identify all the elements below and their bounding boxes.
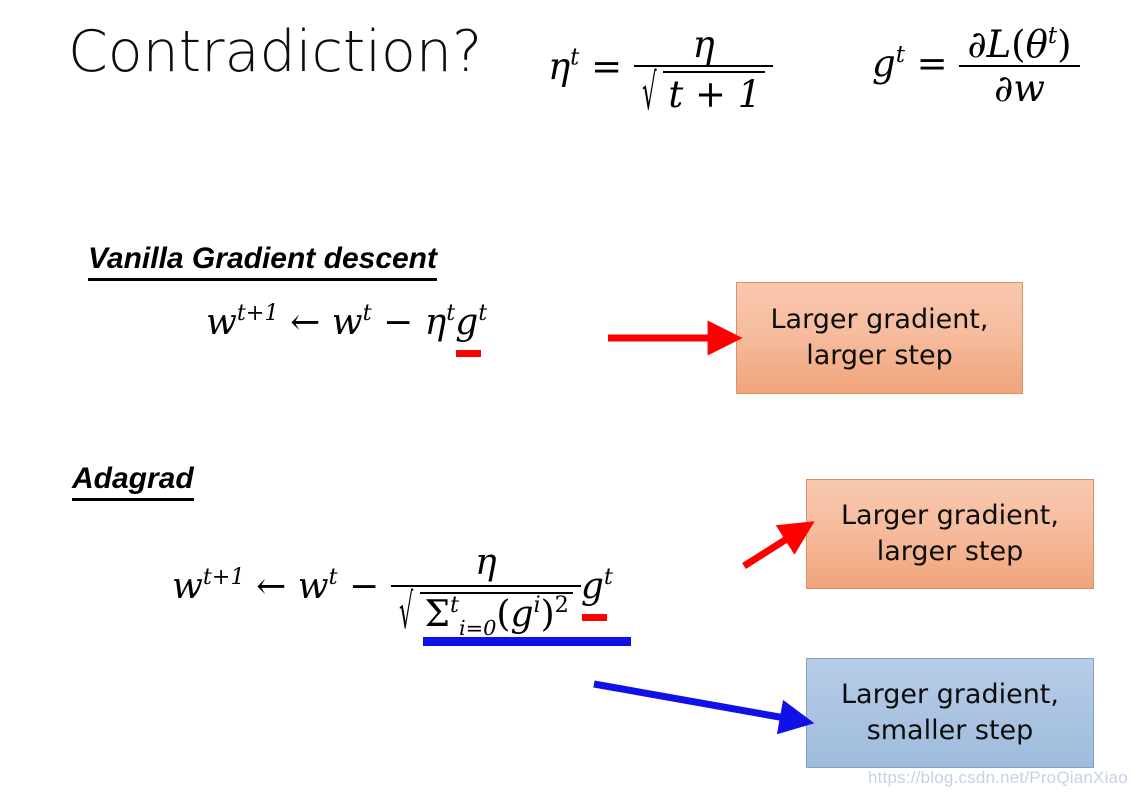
w-base: w: [172, 566, 203, 607]
radicand: t + 1: [663, 71, 765, 113]
theta-symbol: θ: [1026, 23, 1048, 66]
summand-g-base: g: [510, 594, 533, 635]
summand-power: 2: [555, 592, 569, 618]
equals-sign: =: [917, 42, 948, 85]
eta-base: η: [425, 302, 447, 343]
g-superscript: t: [478, 300, 487, 326]
partial-icon: ∂: [967, 23, 986, 66]
left-arrow-icon: ←: [290, 302, 320, 343]
w-superscript-2: t: [363, 300, 372, 326]
fraction-numerator: ∂L(θt): [959, 26, 1079, 65]
radical: √ Σti=0(gi)2: [399, 592, 573, 633]
fraction-learning-rate: η √ t + 1: [634, 26, 773, 113]
fraction-denominator: ∂w: [959, 65, 1079, 107]
g-superscript: t: [604, 564, 613, 590]
callout-line-2: larger step: [877, 534, 1024, 570]
summation-term-highlighted: Σti=0(gi)2: [425, 597, 569, 633]
w-base-2: w: [332, 302, 363, 343]
fraction-numerator: η: [391, 545, 581, 585]
arrow-adagrad-denominator-to-callout: [594, 684, 802, 721]
g-base: g: [455, 302, 478, 343]
g-superscript: t: [896, 42, 905, 68]
formula-learning-rate: ηt = η √ t + 1: [548, 26, 773, 113]
paren-close: ): [541, 594, 555, 635]
radicand: Σti=0(gi)2: [420, 592, 573, 633]
gradient-term-highlighted: gt: [581, 569, 613, 605]
minus-sign: −: [383, 302, 413, 343]
blue-highlight-bar: [423, 637, 631, 646]
summation-icon: Σ: [425, 594, 450, 635]
theta-superscript: t: [1048, 23, 1057, 49]
radical-symbol-icon: √: [642, 67, 657, 117]
paren-close: ): [1057, 23, 1071, 66]
g-base: g: [872, 42, 896, 85]
paren-open: (: [496, 594, 510, 635]
radical: √ t + 1: [642, 71, 765, 113]
summand-g-superscript: i: [533, 592, 540, 618]
fraction-adagrad: η √ Σti=0(gi)2: [391, 545, 581, 633]
callout-line-2: smaller step: [867, 713, 1034, 749]
watermark-text: https://blog.csdn.net/ProQianXiao: [868, 768, 1128, 788]
callout-line-1: Larger gradient,: [771, 302, 989, 338]
eta-base: η: [548, 45, 570, 88]
arrow-adagrad-numerator-to-callout: [744, 528, 804, 566]
paren-open: (: [1011, 23, 1025, 66]
callout-adagrad-smaller-step: Larger gradient, smaller step: [806, 658, 1094, 768]
eta-superscript: t: [570, 45, 579, 71]
fraction-denominator: √ Σti=0(gi)2: [391, 585, 581, 633]
formula-vanilla-gradient-descent: wt+1 ← wt − ηtgt: [206, 305, 487, 341]
fraction-numerator: η: [634, 26, 773, 65]
page-title: Contradiction?: [68, 24, 482, 81]
eta-superscript: t: [446, 300, 455, 326]
left-arrow-icon: ←: [256, 566, 286, 607]
callout-line-1: Larger gradient,: [841, 677, 1059, 713]
loss-symbol: L: [987, 23, 1012, 66]
summation-upper-limit: t: [450, 592, 459, 618]
fraction-denominator: √ t + 1: [634, 65, 773, 113]
w-base: w: [206, 302, 237, 343]
fraction-gradient: ∂L(θt) ∂w: [959, 26, 1079, 107]
w-superscript-2: t: [329, 564, 338, 590]
slide-canvas: Contradiction? ηt = η √ t + 1 gt = ∂L(θt…: [0, 0, 1137, 795]
weight-symbol: w: [1013, 67, 1045, 110]
w-base-2: w: [298, 566, 329, 607]
section-heading-adagrad: Adagrad: [72, 463, 194, 501]
minus-sign: −: [349, 566, 379, 607]
w-superscript: t+1: [237, 300, 279, 326]
g-base: g: [581, 566, 604, 607]
formula-adagrad: wt+1 ← wt − η √ Σti=0(gi)2 gt: [172, 545, 613, 633]
radical-symbol-icon: √: [399, 588, 413, 637]
section-heading-vanilla: Vanilla Gradient descent: [88, 243, 437, 281]
gradient-term-highlighted: gt: [455, 305, 487, 341]
partial-icon: ∂: [994, 67, 1013, 110]
w-superscript: t+1: [203, 564, 245, 590]
callout-line-1: Larger gradient,: [841, 498, 1059, 534]
equals-sign: =: [591, 45, 622, 88]
callout-line-2: larger step: [806, 338, 953, 374]
formula-gradient: gt = ∂L(θt) ∂w: [872, 26, 1080, 107]
callout-vanilla-larger-step: Larger gradient, larger step: [736, 282, 1023, 394]
callout-adagrad-larger-step: Larger gradient, larger step: [806, 479, 1094, 589]
